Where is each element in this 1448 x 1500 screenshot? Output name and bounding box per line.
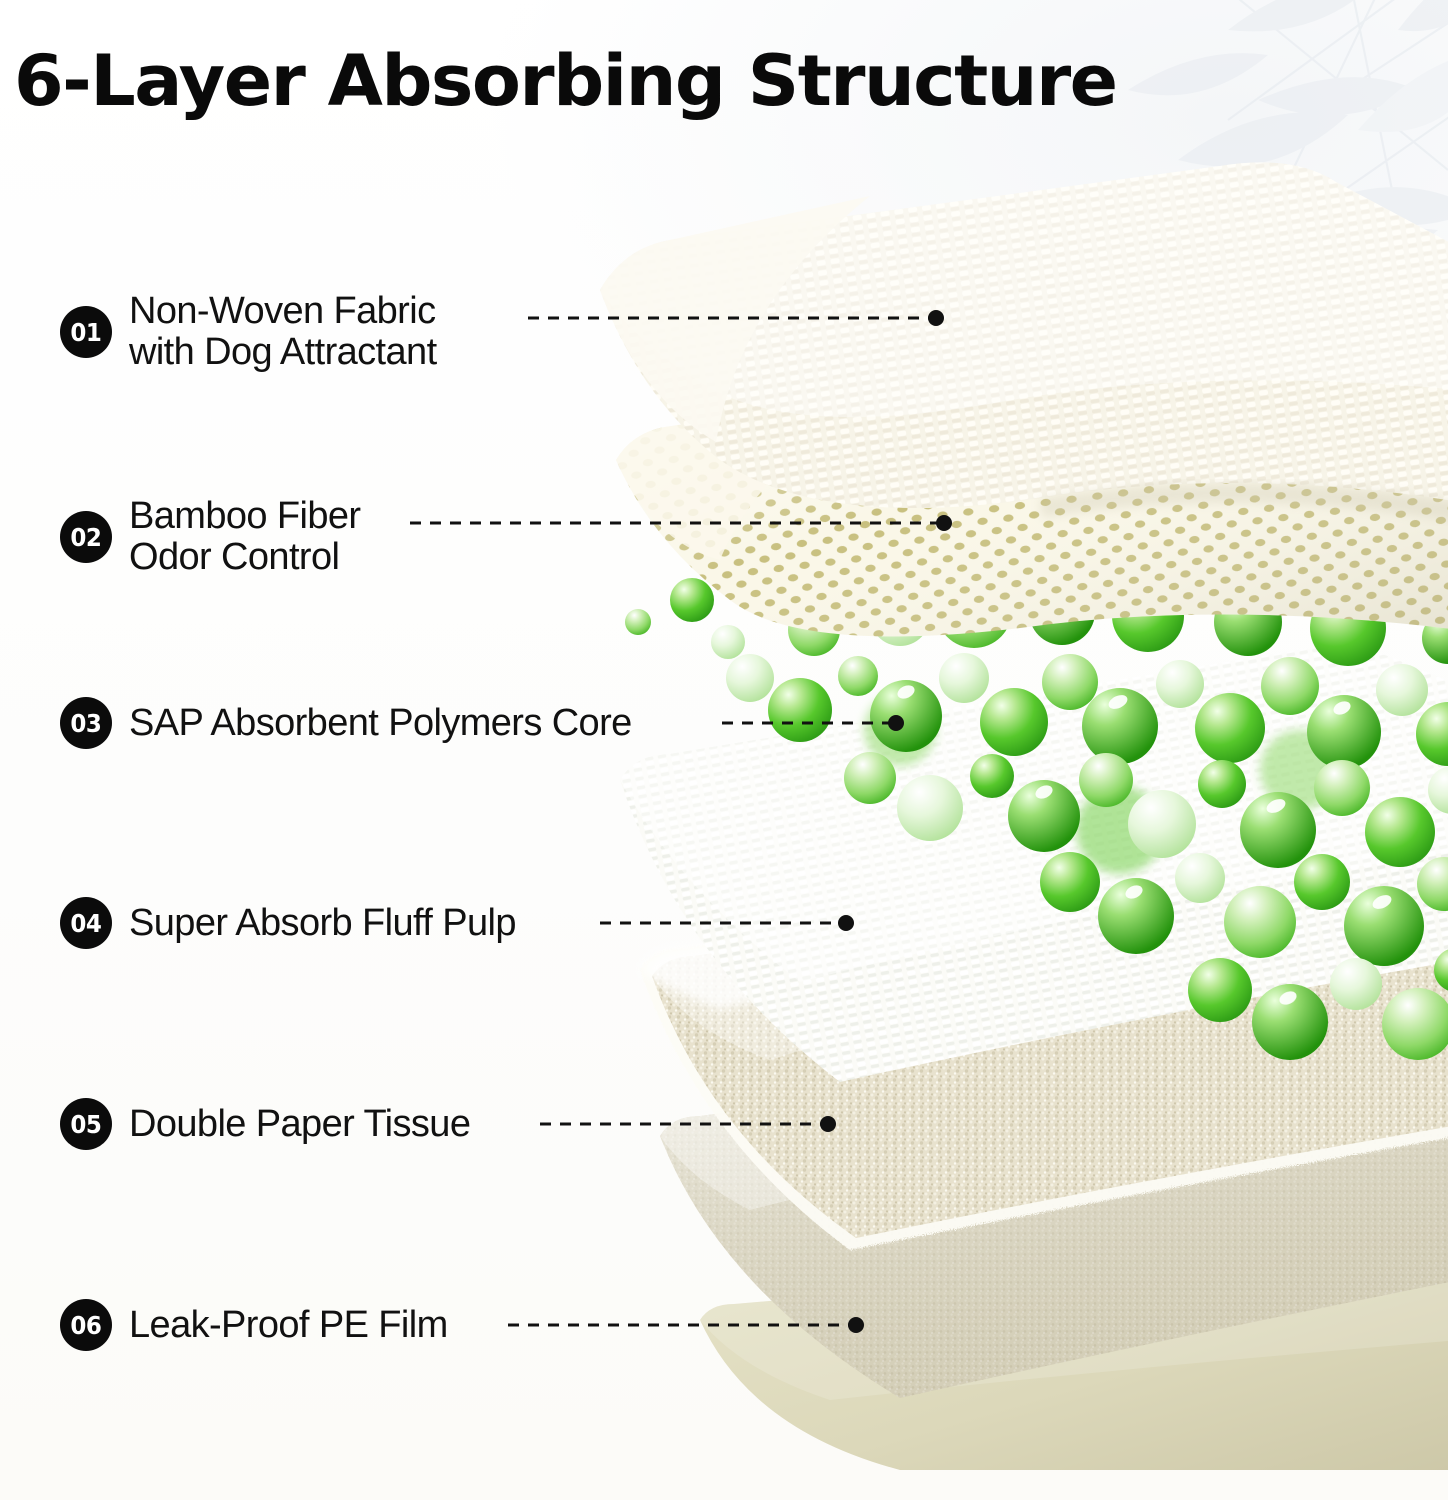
layer-number-03: 03 [70, 709, 101, 738]
layer-number-02: 02 [70, 523, 101, 552]
layer-stack-illustration [600, 130, 1448, 1470]
layer-number-04: 04 [70, 909, 101, 938]
layer-label-04: Super Absorb Fluff Pulp [129, 903, 516, 944]
layer-item-01: 01 Non-Woven Fabric with Dog Attractant [60, 291, 437, 373]
layer-item-03: 03 SAP Absorbent Polymers Core [60, 697, 632, 749]
layer-label-04-line1: Super Absorb Fluff Pulp [129, 902, 516, 944]
layer-number-06: 06 [70, 1311, 101, 1340]
layer-badge-01: 01 [60, 306, 112, 358]
layer-label-06-line1: Leak-Proof PE Film [129, 1304, 448, 1346]
layer-label-02-line2: Odor Control [129, 537, 360, 578]
page-title: 6-Layer Absorbing Structure [14, 46, 1117, 116]
layer-label-05-line1: Double Paper Tissue [129, 1103, 470, 1145]
layer-label-03: SAP Absorbent Polymers Core [129, 703, 632, 744]
layer-item-04: 04 Super Absorb Fluff Pulp [60, 897, 516, 949]
layer-label-01: Non-Woven Fabric with Dog Attractant [129, 291, 437, 373]
layer-label-02-line1: Bamboo Fiber [129, 495, 360, 537]
layer-item-02: 02 Bamboo Fiber Odor Control [60, 496, 360, 578]
layer-label-01-line1: Non-Woven Fabric [129, 290, 435, 332]
layer-badge-02: 02 [60, 511, 112, 563]
layer-badge-04: 04 [60, 897, 112, 949]
layer-number-01: 01 [70, 318, 101, 347]
layer-label-06: Leak-Proof PE Film [129, 1305, 448, 1346]
layer-label-03-line1: SAP Absorbent Polymers Core [129, 702, 632, 744]
layer-item-05: 05 Double Paper Tissue [60, 1098, 470, 1150]
layer-label-01-line2: with Dog Attractant [129, 332, 437, 373]
layer-badge-05: 05 [60, 1098, 112, 1150]
layer-badge-03: 03 [60, 697, 112, 749]
layer-badge-06: 06 [60, 1299, 112, 1351]
layer-item-06: 06 Leak-Proof PE Film [60, 1299, 448, 1351]
layer-label-02: Bamboo Fiber Odor Control [129, 496, 360, 578]
infographic-canvas: 6-Layer Absorbing Structure 01 Non-Woven… [0, 0, 1448, 1500]
layer-number-05: 05 [70, 1110, 101, 1139]
layer-label-05: Double Paper Tissue [129, 1104, 470, 1145]
